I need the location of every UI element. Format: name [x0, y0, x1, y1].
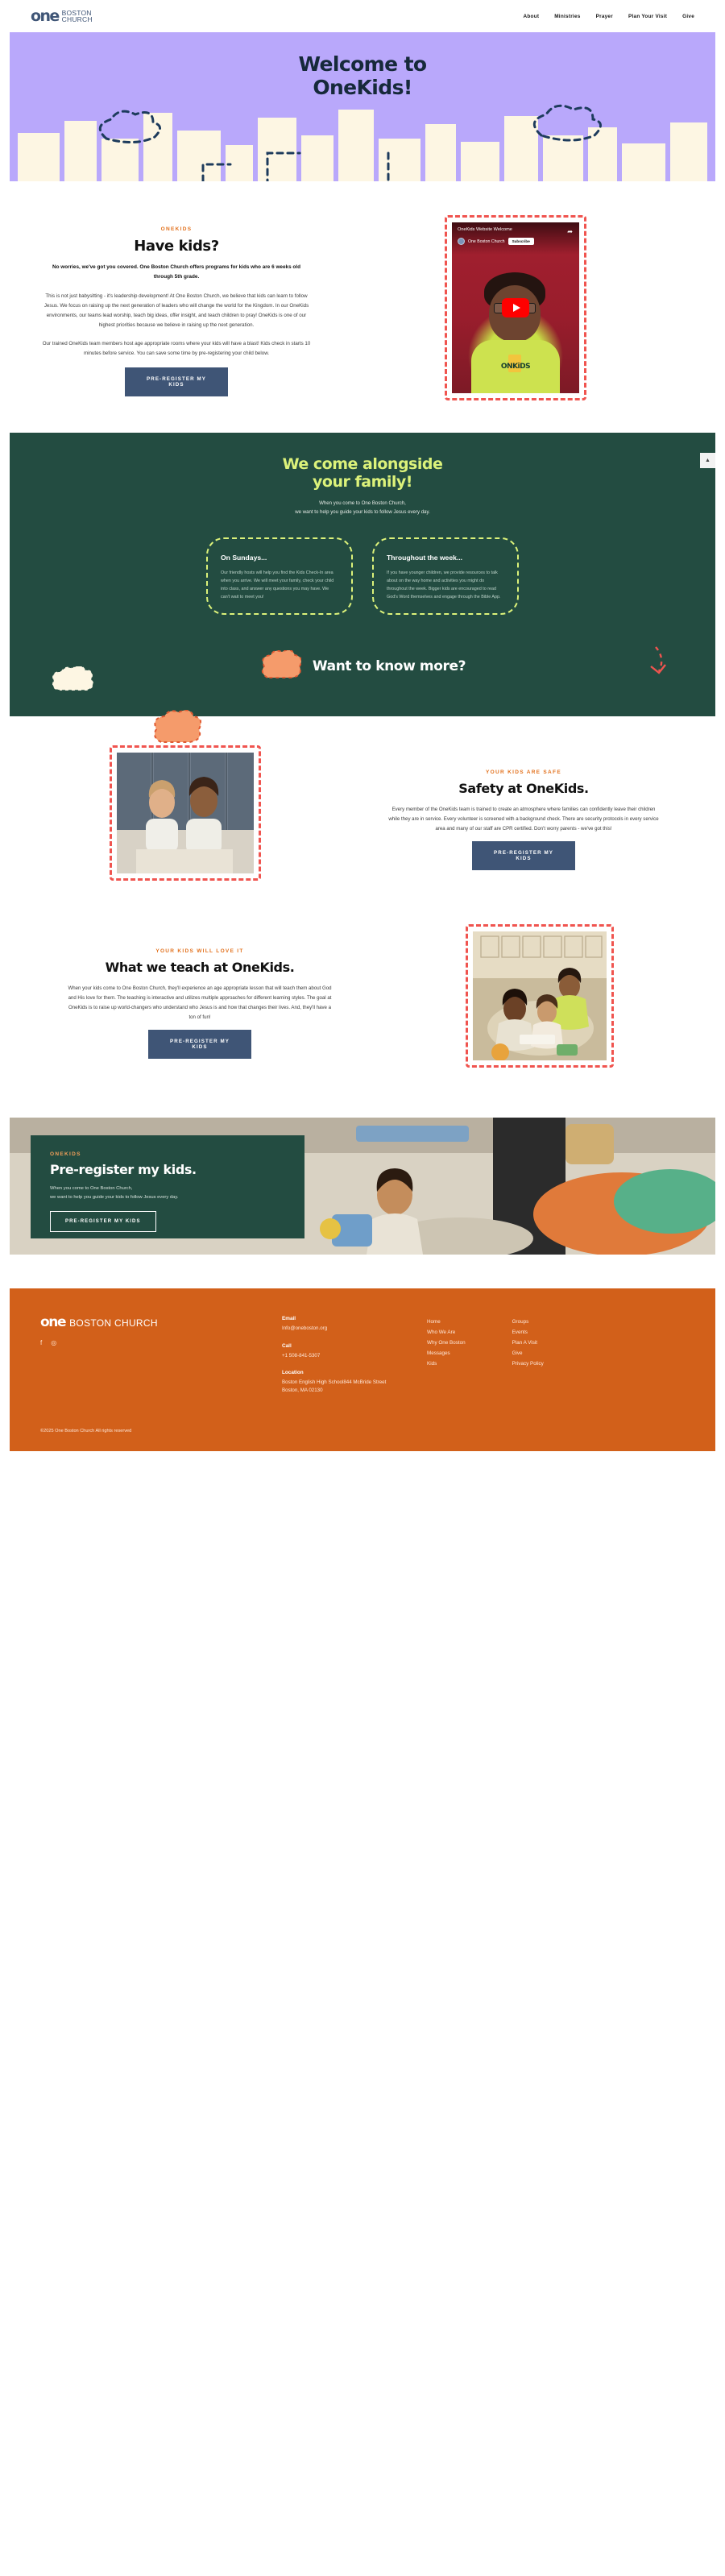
- cloud-doodle-icon: [48, 666, 95, 699]
- alongside-heading: We come alongside your family!: [10, 455, 715, 491]
- facebook-icon[interactable]: f: [40, 1339, 42, 1346]
- footer-links-column-1: Home Who We Are Why One Boston Messages …: [427, 1317, 466, 1404]
- video-frame: ONKiDS OneKids Website Welcome One Bosto…: [445, 215, 586, 400]
- nav-item-prayer[interactable]: Prayer: [596, 14, 613, 19]
- card-on-sundays: On Sundays... Our friendly hosts will he…: [206, 537, 353, 615]
- want-to-know-more-row: Want to know more?: [10, 650, 715, 684]
- footer-social-links: f ◎: [40, 1339, 282, 1346]
- footer-logo-mark: one: [40, 1316, 65, 1329]
- safety-section: YOUR KIDS ARE SAFE Safety at OneKids. Ev…: [0, 716, 725, 897]
- hero-title: Welcome to OneKids!: [10, 32, 715, 99]
- safety-heading: Safety at OneKids.: [371, 781, 677, 796]
- video-overlay-header: OneKids Website Welcome One Boston Churc…: [452, 222, 579, 255]
- prereg-button-have-kids[interactable]: PRE-REGISTER MY KIDS: [125, 367, 228, 396]
- footer-contact: Email Info@oneboston.org Call +1 508-841…: [282, 1316, 427, 1404]
- scroll-to-top-button[interactable]: ▲: [700, 453, 715, 468]
- alongside-subtext: When you come to One Boston Church, we w…: [10, 500, 715, 517]
- footer-links-column-2: Groups Events Plan A Visit Give Privacy …: [512, 1317, 544, 1404]
- card-title-throughout-week: Throughout the week...: [387, 554, 504, 562]
- have-kids-paragraph-1: This is not just babysitting - it's lead…: [31, 292, 322, 330]
- teach-section: YOUR KIDS WILL LOVE IT What we teach at …: [0, 897, 725, 1100]
- have-kids-section: ONEKIDS Have kids? No worries, we've got…: [0, 181, 725, 433]
- alongside-cards: On Sundays... Our friendly hosts will he…: [10, 537, 715, 615]
- teach-photo-frame: [466, 924, 614, 1068]
- have-kids-heading: Have kids?: [31, 238, 322, 255]
- instagram-icon[interactable]: ◎: [51, 1339, 56, 1346]
- prereg-body: When you come to One Boston Church, we w…: [50, 1184, 285, 1201]
- card-body-on-sundays: Our friendly hosts will help you find th…: [221, 569, 338, 601]
- teach-eyebrow: YOUR KIDS WILL LOVE IT: [45, 948, 354, 954]
- prereg-heading: Pre-register my kids.: [50, 1162, 285, 1177]
- shirt-logo-text: ONKiDS: [452, 363, 579, 371]
- prereg-banner-section: ONEKIDS Pre-register my kids. When you c…: [10, 1118, 715, 1255]
- have-kids-video-column: ONKiDS OneKids Website Welcome One Bosto…: [330, 212, 701, 400]
- video-channel-name: One Boston Church: [468, 239, 505, 244]
- footer-call-value[interactable]: +1 508-841-5307: [282, 1352, 427, 1360]
- safety-text-column: YOUR KIDS ARE SAFE Safety at OneKids. Ev…: [371, 740, 725, 870]
- hero-banner: Welcome to OneKids!: [10, 32, 715, 181]
- teach-text-column: YOUR KIDS WILL LOVE IT What we teach at …: [0, 921, 354, 1059]
- card-throughout-week: Throughout the week... If you have young…: [372, 537, 519, 615]
- prereg-button-safety[interactable]: PRE-REGISTER MY KIDS: [472, 841, 575, 870]
- page-root: one BOSTON CHURCH About Ministries Praye…: [0, 0, 725, 1451]
- video-channel-row: One Boston Church Subscribe: [458, 238, 574, 245]
- footer-logo[interactable]: one BOSTON CHURCH: [40, 1316, 282, 1329]
- prereg-button-banner[interactable]: PRE-REGISTER MY KIDS: [50, 1211, 156, 1232]
- footer-link-columns: Home Who We Are Why One Boston Messages …: [427, 1316, 544, 1404]
- have-kids-text-column: ONEKIDS Have kids? No worries, we've got…: [0, 212, 322, 396]
- orange-blob-icon: [259, 650, 301, 684]
- safety-photo-column: [0, 740, 371, 881]
- footer-link-privacy-policy[interactable]: Privacy Policy: [512, 1359, 544, 1370]
- footer-email-value[interactable]: Info@oneboston.org: [282, 1325, 427, 1333]
- footer-copyright: ©2025 One Boston Church All rights reser…: [10, 1429, 715, 1451]
- nav-item-about[interactable]: About: [524, 14, 540, 19]
- footer-link-groups[interactable]: Groups: [512, 1317, 544, 1328]
- footer-location-value: Boston English High School844 McBride St…: [282, 1379, 427, 1394]
- nav-item-plan-your-visit[interactable]: Plan Your Visit: [628, 14, 667, 19]
- card-title-on-sundays: On Sundays...: [221, 554, 338, 562]
- footer-location-label: Location: [282, 1370, 427, 1375]
- footer-call-label: Call: [282, 1343, 427, 1349]
- teach-body: When your kids come to One Boston Church…: [45, 984, 354, 1023]
- footer-link-plan-a-visit[interactable]: Plan A Visit: [512, 1338, 544, 1349]
- nav-links: About Ministries Prayer Plan Your Visit …: [524, 14, 694, 19]
- footer-link-who-we-are[interactable]: Who We Are: [427, 1328, 466, 1338]
- teach-photo-column: [354, 921, 725, 1068]
- play-button-icon[interactable]: [502, 298, 529, 317]
- logo-mark: one: [31, 9, 59, 24]
- come-alongside-section: ▲ We come alongside your family! When yo…: [10, 433, 715, 716]
- prereg-button-teach[interactable]: PRE-REGISTER MY KIDS: [148, 1030, 251, 1059]
- footer-email-label: Email: [282, 1316, 427, 1321]
- video-title: OneKids Website Welcome: [458, 227, 574, 232]
- have-kids-paragraph-2: Our trained OneKids team members host ag…: [31, 339, 322, 359]
- city-skyline-illustration: [10, 89, 715, 181]
- logo-line-church: CHURCH: [62, 16, 93, 23]
- footer-link-events[interactable]: Events: [512, 1328, 544, 1338]
- subscribe-button[interactable]: Subscribe: [508, 238, 534, 245]
- safety-photo-frame: [110, 745, 261, 881]
- footer-link-give[interactable]: Give: [512, 1349, 544, 1359]
- prereg-card: ONEKIDS Pre-register my kids. When you c…: [31, 1135, 304, 1238]
- safety-eyebrow: YOUR KIDS ARE SAFE: [371, 769, 677, 775]
- have-kids-eyebrow: ONEKIDS: [31, 226, 322, 232]
- want-to-know-more-heading: Want to know more?: [313, 659, 466, 675]
- orange-blob-icon-2: [151, 710, 201, 750]
- youtube-video-player[interactable]: ONKiDS OneKids Website Welcome One Bosto…: [452, 222, 579, 393]
- card-body-throughout-week: If you have younger children, we provide…: [387, 569, 504, 601]
- top-navigation-bar: one BOSTON CHURCH About Ministries Praye…: [0, 0, 725, 32]
- footer-link-home[interactable]: Home: [427, 1317, 466, 1328]
- share-icon[interactable]: ➦: [567, 228, 573, 235]
- footer-link-messages[interactable]: Messages: [427, 1349, 466, 1359]
- site-footer: one BOSTON CHURCH f ◎ Email Info@onebost…: [10, 1288, 715, 1429]
- site-logo[interactable]: one BOSTON CHURCH: [31, 9, 93, 24]
- curved-arrow-icon: [644, 645, 669, 681]
- safety-body: Every member of the OneKids team is trai…: [371, 805, 677, 834]
- teach-heading: What we teach at OneKids.: [45, 960, 354, 975]
- footer-logo-text: BOSTON CHURCH: [69, 1317, 158, 1329]
- teach-photo: [473, 931, 607, 1060]
- logo-wordmark: BOSTON CHURCH: [62, 10, 93, 23]
- prereg-eyebrow: ONEKIDS: [50, 1151, 285, 1157]
- footer-link-why-one-boston[interactable]: Why One Boston: [427, 1338, 466, 1349]
- have-kids-lead: No worries, we've got you covered. One B…: [31, 263, 322, 282]
- footer-brand: one BOSTON CHURCH f ◎: [40, 1316, 282, 1404]
- nav-item-give[interactable]: Give: [682, 14, 694, 19]
- channel-avatar: [458, 238, 465, 245]
- nav-item-ministries[interactable]: Ministries: [554, 14, 580, 19]
- footer-link-kids[interactable]: Kids: [427, 1359, 466, 1370]
- safety-photo: [117, 753, 254, 873]
